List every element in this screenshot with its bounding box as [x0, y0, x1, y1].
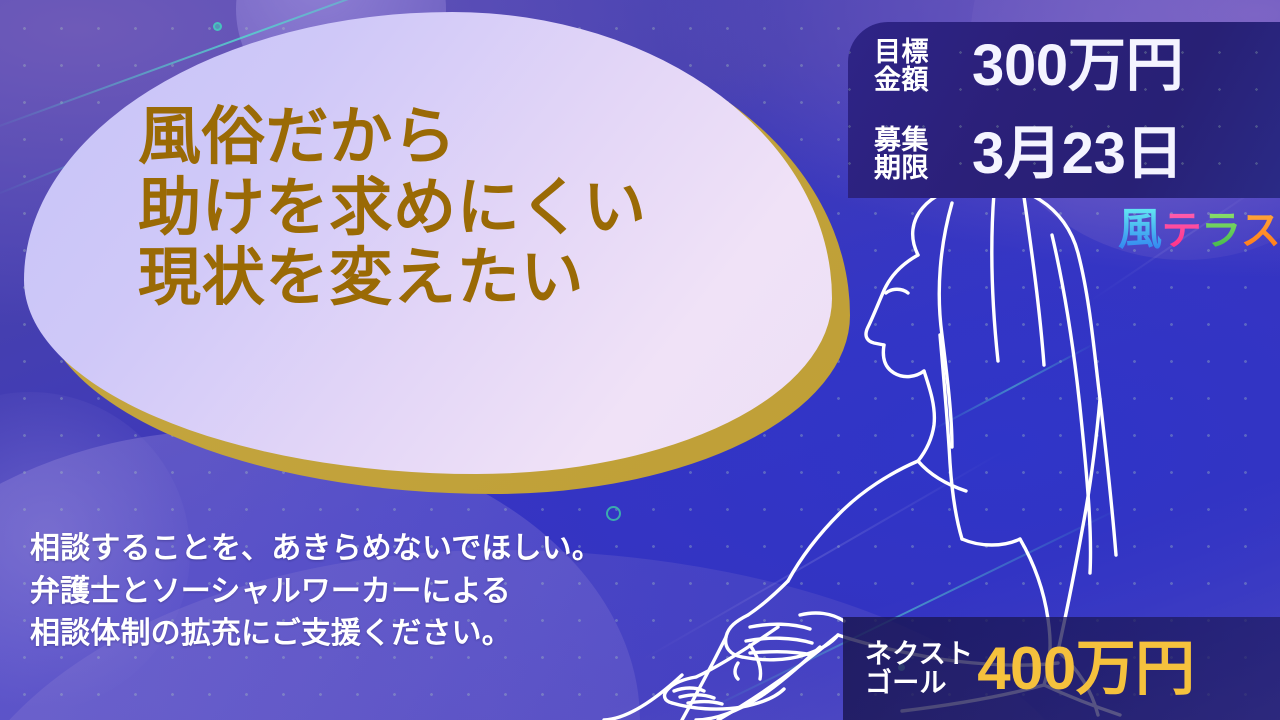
logo-char-1: 風 [1118, 208, 1162, 252]
goal-row-target-amount: 目標 金額 300万円 [848, 22, 1280, 110]
next-goal-label: ネクスト ゴール [865, 640, 973, 697]
goal-row-deadline: 募集 期限 3月23日 [848, 110, 1280, 198]
next-goal-value: 400万円 [977, 639, 1194, 699]
goal-label-deadline: 募集 期限 [874, 126, 966, 182]
campaign-banner: 風俗だから 助けを求めにくい 現状を変えたい 相談することを、あきらめないでほし… [0, 0, 1280, 720]
next-goal-badge: ネクスト ゴール 400万円 [843, 617, 1280, 720]
logo-char-2: テ [1162, 211, 1202, 251]
logo-char-4: ス [1241, 211, 1280, 251]
headline-blob: 風俗だから 助けを求めにくい 現状を変えたい [18, 6, 858, 506]
goal-value-target-amount: 300万円 [972, 37, 1183, 95]
goal-label-target-amount: 目標 金額 [874, 38, 966, 94]
brand-logo-futeras: 風 テ ラ ス [1118, 208, 1280, 252]
headline-text: 風俗だから 助けを求めにくい 現状を変えたい [138, 102, 838, 314]
logo-char-3: ラ [1201, 211, 1241, 251]
goal-value-deadline: 3月23日 [972, 125, 1183, 183]
goal-badge: 目標 金額 300万円 募集 期限 3月23日 [848, 22, 1280, 198]
supporting-copy: 相談することを、あきらめないでほしい。 弁護士とソーシャルワーカーによる 相談体… [30, 528, 602, 656]
